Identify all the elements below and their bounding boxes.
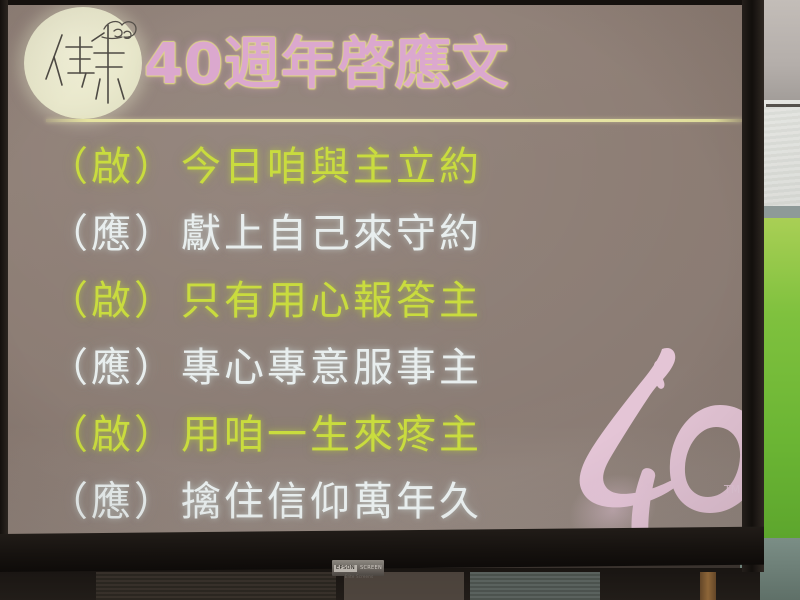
projected-slide: 40週年啓應文 TM （啟） 今日咱與主立約 （應） 獻上自己來 [8, 5, 742, 536]
verse-marker: （應） [48, 343, 177, 393]
ceiling-rail [766, 104, 800, 107]
wooden-pole [700, 572, 716, 600]
verse-line: （啟） 用咱一生來疼主 [48, 401, 738, 468]
verse-text: 只有用心報答主 [181, 276, 482, 326]
verse-marker: （應） [48, 477, 177, 527]
verse-line: （應） 專心專意服事主 [48, 334, 738, 401]
verse-marker: （啟） [48, 142, 177, 192]
verse-line: （啟） 今日咱與主立約 [48, 133, 738, 200]
verse-text: 專心專意服事主 [181, 343, 482, 393]
green-wall-board [762, 218, 800, 538]
wall-upper-strip [760, 206, 800, 218]
chuancheng-seal-logo [24, 7, 142, 119]
verse-marker: （應） [48, 209, 177, 259]
verse-text: 用咱一生來疼主 [181, 410, 482, 460]
verse-marker: （啟） [48, 276, 177, 326]
verse-list: （啟） 今日咱與主立約 （應） 獻上自己來守約 （啟） 只有用心報答主 （應） … [48, 133, 738, 535]
brand-label-primary: EPSON [334, 565, 357, 572]
verse-line: （應） 擒住信仰萬年久 [48, 468, 738, 535]
projector-screen: 40週年啓應文 TM （啟） 今日咱與主立約 （應） 獻上自己來 [0, 0, 764, 572]
brand-label-secondary: SCREEN [360, 565, 382, 572]
page-title: 40週年啓應文 [144, 35, 704, 95]
screen-brand-sublabel: Elite Screens [336, 574, 382, 579]
window-blind-left [96, 572, 336, 600]
verse-text: 擒住信仰萬年久 [181, 477, 482, 527]
screen-frame-left [0, 0, 8, 572]
verse-line: （應） 獻上自己來守約 [48, 200, 738, 267]
logo-calligraphy-icon [24, 7, 142, 119]
verse-line: （啟） 只有用心報答主 [48, 267, 738, 334]
verse-text: 今日咱與主立約 [181, 142, 482, 192]
verse-text: 獻上自己來守約 [181, 209, 482, 259]
title-divider [46, 119, 742, 122]
slide-title-row: 40週年啓應文 [144, 35, 704, 97]
screen-frame-right [742, 0, 764, 572]
ceiling-tile-texture [760, 104, 800, 210]
window-blind-right [470, 572, 600, 600]
verse-marker: （啟） [48, 410, 177, 460]
screen-frame-top [0, 0, 764, 5]
